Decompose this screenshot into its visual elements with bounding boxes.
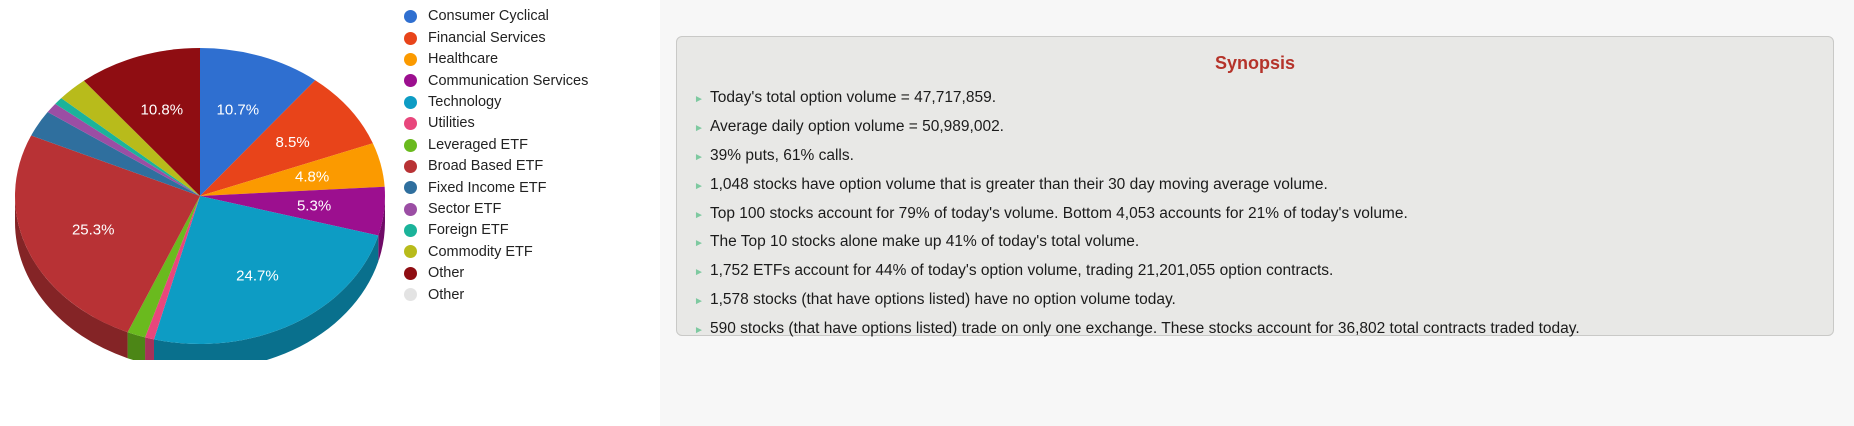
pie-slice-percent-label: 25.3% xyxy=(72,222,115,239)
legend-color-swatch xyxy=(404,53,417,66)
triangle-bullet-icon: ► xyxy=(691,95,710,105)
pie-slices-layer xyxy=(15,48,385,344)
legend-item[interactable]: Other xyxy=(404,263,654,284)
legend-item-label: Healthcare xyxy=(428,52,498,67)
legend-color-swatch xyxy=(404,74,417,87)
pie-slice-percent-label: 10.7% xyxy=(217,101,260,118)
synopsis-item-text: The Top 10 stocks alone make up 41% of t… xyxy=(710,233,1139,251)
synopsis-item-text: Top 100 stocks account for 79% of today'… xyxy=(710,205,1408,223)
pie-slice-percent-label: 24.7% xyxy=(236,267,279,284)
synopsis-item-text: Today's total option volume = 47,717,859… xyxy=(710,89,996,107)
synopsis-item-text: Average daily option volume = 50,989,002… xyxy=(710,118,1004,136)
legend-item-label: Financial Services xyxy=(428,31,546,46)
synopsis-item-text: 39% puts, 61% calls. xyxy=(710,147,854,165)
triangle-bullet-icon: ► xyxy=(691,268,710,278)
legend-item[interactable]: Sector ETF xyxy=(404,199,654,220)
synopsis-item: ► 1,752 ETFs account for 44% of today's … xyxy=(691,257,1819,286)
pie-slice-percent-label: 8.5% xyxy=(275,134,309,151)
synopsis-item: ► Average daily option volume = 50,989,0… xyxy=(691,113,1819,142)
synopsis-item: ► Today's total option volume = 47,717,8… xyxy=(691,84,1819,113)
option-volume-summary-page: 10.7%8.5%4.8%5.3%24.7%25.3%10.8% Consume… xyxy=(0,0,1854,426)
legend-item[interactable]: Leveraged ETF xyxy=(404,134,654,155)
legend-item-label: Broad Based ETF xyxy=(428,159,543,174)
legend-item[interactable]: Technology xyxy=(404,92,654,113)
pie-slice-percent-label: 5.3% xyxy=(297,197,331,214)
legend-color-swatch xyxy=(404,32,417,45)
triangle-bullet-icon: ► xyxy=(691,211,710,221)
legend-item[interactable]: Utilities xyxy=(404,113,654,134)
legend-item-label: Consumer Cyclical xyxy=(428,9,549,24)
legend-color-swatch xyxy=(404,267,417,280)
legend-color-swatch xyxy=(404,203,417,216)
synopsis-item: ► 39% puts, 61% calls. xyxy=(691,141,1819,170)
legend-item-label: Technology xyxy=(428,95,501,110)
triangle-bullet-icon: ► xyxy=(691,124,710,134)
legend-color-swatch xyxy=(404,160,417,173)
triangle-bullet-icon: ► xyxy=(691,297,710,307)
legend-item[interactable]: Commodity ETF xyxy=(404,241,654,262)
synopsis-item-text: 1,578 stocks (that have options listed) … xyxy=(710,291,1176,309)
synopsis-box: Synopsis ► Today's total option volume =… xyxy=(676,36,1834,336)
pie-chart: 10.7%8.5%4.8%5.3%24.7%25.3%10.8% xyxy=(0,0,400,360)
legend-item[interactable]: Broad Based ETF xyxy=(404,156,654,177)
synopsis-item: ► 590 stocks (that have options listed) … xyxy=(691,314,1819,343)
triangle-bullet-icon: ► xyxy=(691,239,710,249)
legend-item-label: Sector ETF xyxy=(428,202,501,217)
pie-slice-percent-label: 4.8% xyxy=(295,169,329,186)
legend-item[interactable]: Consumer Cyclical xyxy=(404,6,654,27)
legend-color-swatch xyxy=(404,10,417,23)
synopsis-title: Synopsis xyxy=(677,54,1833,74)
legend-item[interactable]: Other xyxy=(404,284,654,305)
synopsis-item: ► 1,578 stocks (that have options listed… xyxy=(691,285,1819,314)
synopsis-item: ► 1,048 stocks have option volume that i… xyxy=(691,170,1819,199)
legend-color-swatch xyxy=(404,245,417,258)
pie-slice-depth xyxy=(145,337,154,360)
synopsis-item-text: 590 stocks (that have options listed) tr… xyxy=(710,320,1580,338)
triangle-bullet-icon: ► xyxy=(691,153,710,163)
legend-item-label: Communication Services xyxy=(428,74,588,89)
pie-chart-svg: 10.7%8.5%4.8%5.3%24.7%25.3%10.8% xyxy=(0,0,400,360)
legend-item-label: Other xyxy=(428,266,464,281)
legend-item-label: Foreign ETF xyxy=(428,223,509,238)
legend-item[interactable]: Foreign ETF xyxy=(404,220,654,241)
pie-slice-percent-label: 10.8% xyxy=(141,101,184,118)
triangle-bullet-icon: ► xyxy=(691,182,710,192)
legend-color-swatch xyxy=(404,117,417,130)
legend-item-label: Other xyxy=(428,288,464,303)
synopsis-list: ► Today's total option volume = 47,717,8… xyxy=(677,84,1833,343)
synopsis-item: ► The Top 10 stocks alone make up 41% of… xyxy=(691,228,1819,257)
chart-legend: Consumer Cyclical Financial Services Hea… xyxy=(404,6,654,305)
triangle-bullet-icon: ► xyxy=(691,326,710,336)
synopsis-item-text: 1,752 ETFs account for 44% of today's op… xyxy=(710,262,1333,280)
legend-color-swatch xyxy=(404,288,417,301)
legend-item[interactable]: Financial Services xyxy=(404,27,654,48)
synopsis-item: ► Top 100 stocks account for 79% of toda… xyxy=(691,199,1819,228)
legend-color-swatch xyxy=(404,224,417,237)
legend-item-label: Commodity ETF xyxy=(428,245,533,260)
synopsis-pane: Synopsis ► Today's total option volume =… xyxy=(660,0,1854,426)
legend-item[interactable]: Communication Services xyxy=(404,70,654,91)
legend-item[interactable]: Healthcare xyxy=(404,49,654,70)
legend-color-swatch xyxy=(404,139,417,152)
legend-item-label: Fixed Income ETF xyxy=(428,181,546,196)
sector-breakdown-chart-panel: 10.7%8.5%4.8%5.3%24.7%25.3%10.8% Consume… xyxy=(0,0,660,426)
legend-item[interactable]: Fixed Income ETF xyxy=(404,177,654,198)
synopsis-item-text: 1,048 stocks have option volume that is … xyxy=(710,176,1328,194)
legend-item-label: Leveraged ETF xyxy=(428,138,528,153)
legend-color-swatch xyxy=(404,96,417,109)
legend-item-label: Utilities xyxy=(428,116,475,131)
legend-color-swatch xyxy=(404,181,417,194)
